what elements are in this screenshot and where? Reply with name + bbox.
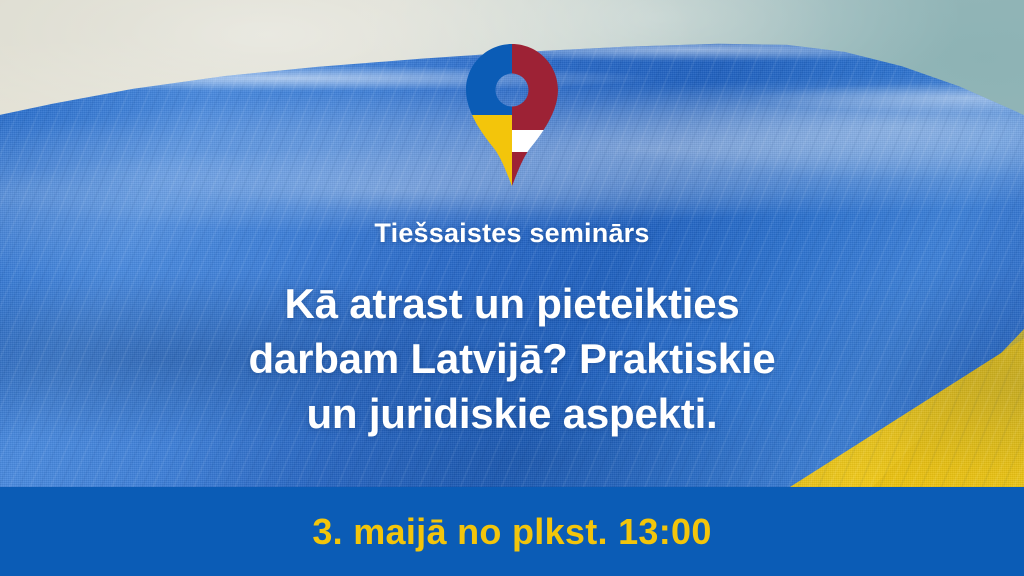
event-headline: Kā atrast un pieteikties darbam Latvijā?… bbox=[0, 276, 1024, 441]
event-date-bar: 3. maijā no plkst. 13:00 bbox=[0, 487, 1024, 576]
map-pin-logo bbox=[466, 44, 558, 186]
pin-quadrant-blue bbox=[466, 44, 512, 115]
pin-quadrant-carmine-bottom bbox=[512, 152, 558, 186]
headline-line-2: darbam Latvijā? Praktiskie bbox=[0, 331, 1024, 386]
pin-band-white bbox=[512, 130, 558, 152]
map-pin-icon bbox=[466, 44, 558, 186]
headline-line-3: un juridiskie aspekti. bbox=[0, 386, 1024, 441]
webinar-promo-poster: Tiešsaistes seminārs Kā atrast un pietei… bbox=[0, 0, 1024, 576]
pin-quadrant-carmine-top bbox=[512, 44, 558, 130]
pin-quadrant-yellow bbox=[466, 115, 512, 186]
event-type-kicker: Tiešsaistes seminārs bbox=[0, 216, 1024, 250]
headline-line-1: Kā atrast un pieteikties bbox=[0, 276, 1024, 331]
event-date-text: 3. maijā no plkst. 13:00 bbox=[312, 512, 711, 552]
